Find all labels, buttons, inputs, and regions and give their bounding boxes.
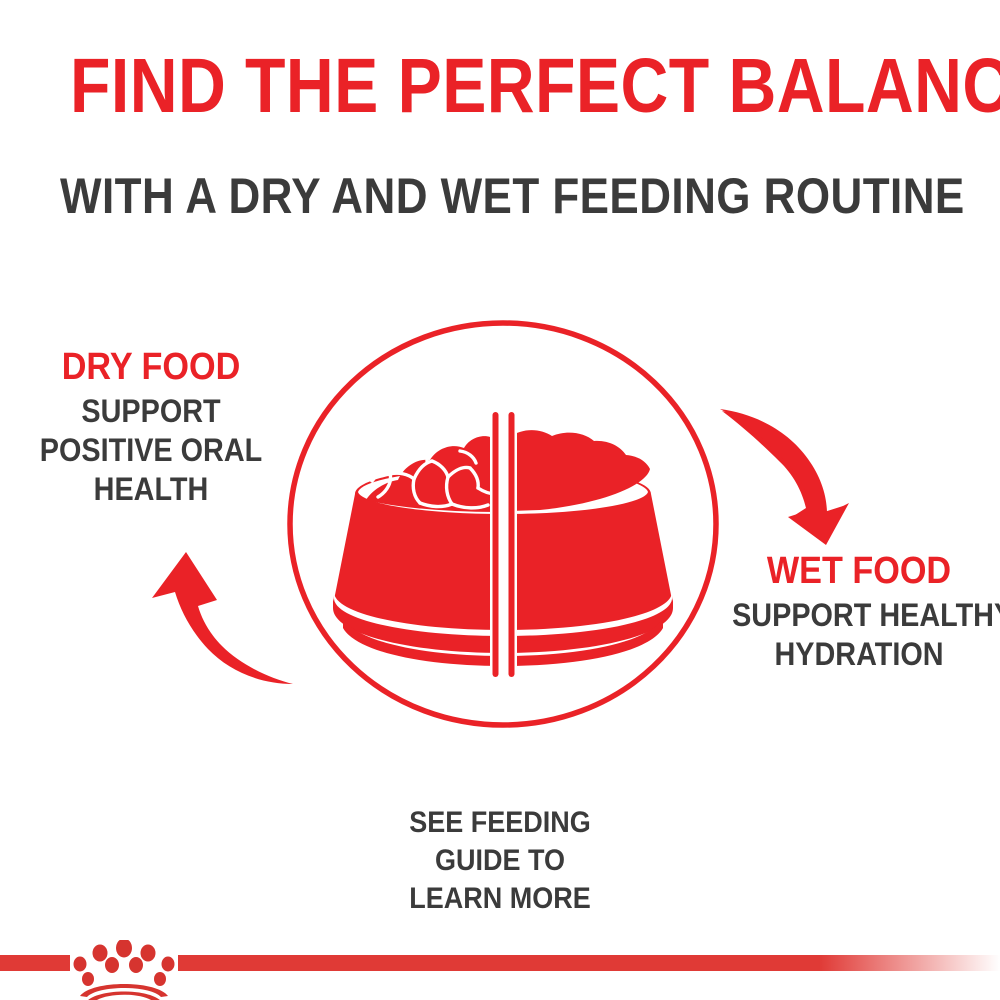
footer-rule-left <box>0 955 70 971</box>
wet-food-title: WET FOOD <box>732 552 986 590</box>
bowl-foot <box>343 618 663 666</box>
bowl-base-ring <box>333 596 673 653</box>
dry-food-line-3: HEALTH <box>33 473 269 505</box>
header-block: FIND THE PERFECT BALANCE WITH A DRY AND … <box>0 48 1000 221</box>
page-subtitle: WITH A DRY AND WET FEEDING ROUTINE <box>60 125 940 221</box>
caption-line-3: LEARN MORE <box>320 884 680 914</box>
wet-food-line-2: HYDRATION <box>732 638 986 670</box>
bowl-base-gap <box>334 592 672 636</box>
circle-outline-icon <box>290 323 716 725</box>
feeding-guide-caption: SEE FEEDING GUIDE TO LEARN MORE <box>300 808 700 922</box>
pet-food-bowl-icon <box>333 430 673 666</box>
caption-line-1: SEE FEEDING <box>320 808 680 838</box>
footer-rule-right <box>178 955 1000 971</box>
dry-food-mound <box>366 436 496 512</box>
caption-line-2: GUIDE TO <box>320 846 680 876</box>
dry-food-title: DRY FOOD <box>33 348 269 386</box>
bowl-body <box>334 466 672 644</box>
dry-food-label-group: DRY FOOD SUPPORT POSITIVE ORAL HEALTH <box>20 348 282 505</box>
divider-line-left <box>493 412 499 677</box>
vertical-divider-lines-icon <box>490 408 517 680</box>
poster-root: FIND THE PERFECT BALANCE WITH A DRY AND … <box>0 0 1000 1000</box>
dry-food-line-1: SUPPORT <box>33 395 269 427</box>
divider-line-right <box>509 412 515 677</box>
curved-arrow-down-right-icon <box>722 411 843 538</box>
footer-bar <box>0 940 1000 1000</box>
kibble-pieces-icon <box>372 447 496 508</box>
wet-food-label-group: WET FOOD SUPPORT HEALTHY HYDRATION <box>718 552 1000 670</box>
curved-arrow-down-right-body <box>720 409 849 545</box>
royal-canin-crown-icon <box>74 940 175 1000</box>
dry-food-line-2: POSITIVE ORAL <box>33 434 269 466</box>
bowl-rim-opening <box>358 469 648 514</box>
wet-food-mound <box>510 430 650 511</box>
wet-food-line-1: SUPPORT HEALTHY <box>732 599 986 631</box>
page-title: FIND THE PERFECT BALANCE <box>70 48 930 125</box>
curved-arrow-up-left-icon <box>152 552 293 684</box>
